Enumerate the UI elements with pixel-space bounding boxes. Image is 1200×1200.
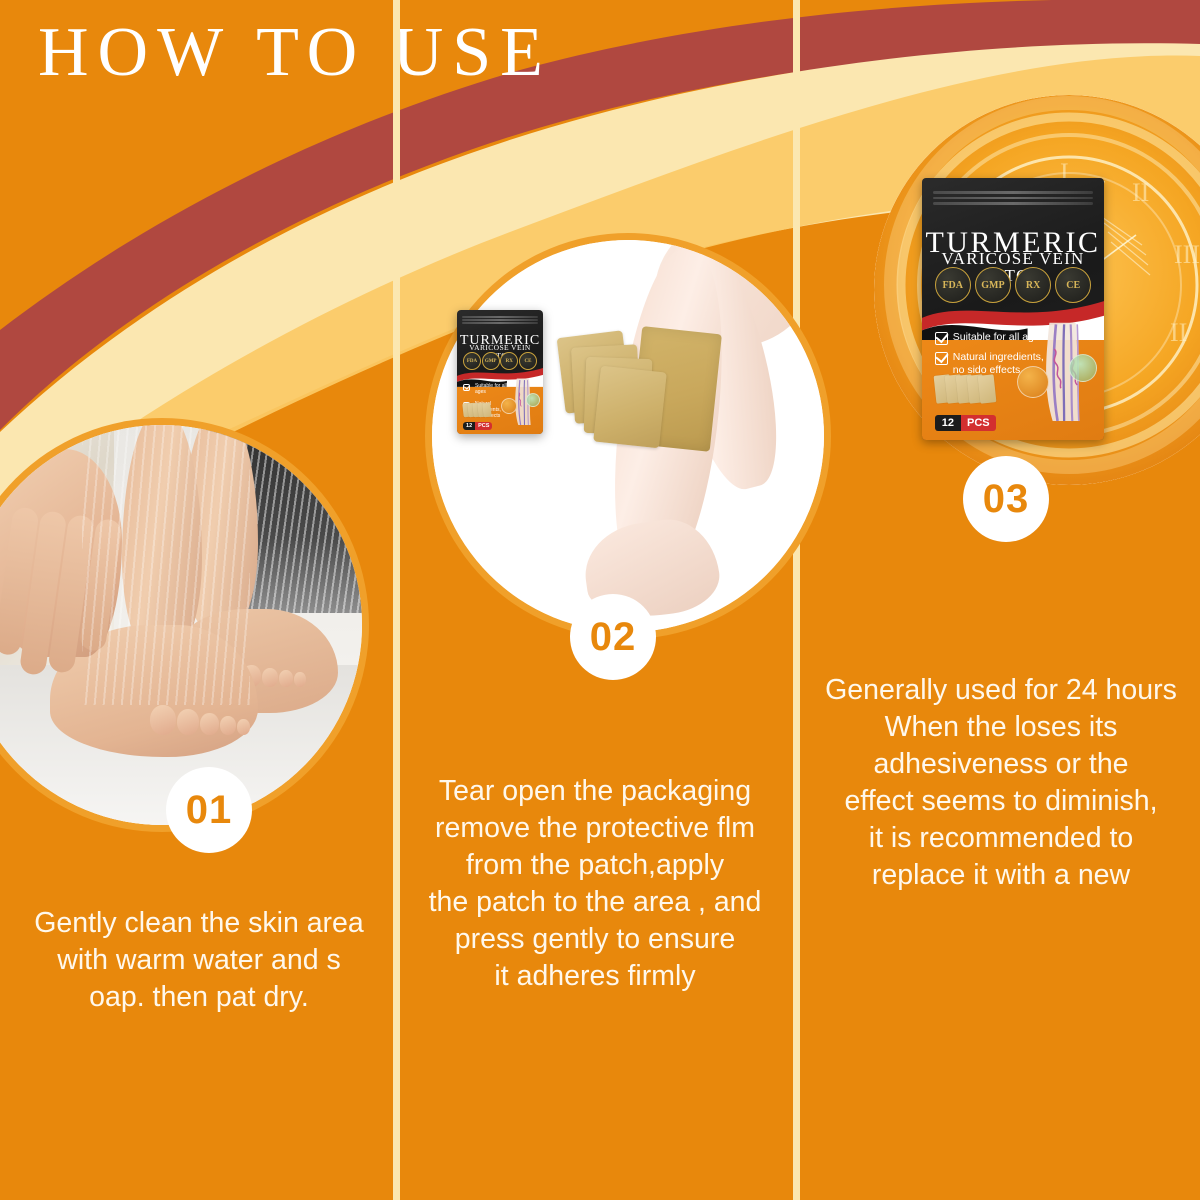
leaf-icon	[526, 393, 540, 407]
feet-in-shower-photo	[0, 425, 362, 825]
check-icon	[935, 332, 948, 345]
step-1-caption: Gently clean the skin area with warm wat…	[10, 905, 388, 1016]
svg-text:III: III	[1174, 240, 1200, 269]
product-package-small: TURMERIC VARICOSE VEIN PATCH FDA GMP RX …	[457, 310, 543, 434]
package-count-number: 12	[463, 422, 475, 430]
package-feature: Suitable for all ages	[953, 331, 1045, 344]
package-certification-badges: FDA GMP RX CE	[463, 352, 537, 370]
package-certification-badges: FDA GMP RX CE	[935, 267, 1092, 303]
step-3-caption: Generally used for 24 hours When the los…	[806, 672, 1196, 894]
package-patch-stack-graphic	[463, 403, 488, 417]
caduceus-badge-icon: RX	[500, 352, 518, 370]
gmp-badge-icon: GMP	[482, 352, 500, 370]
step-1-number-badge: 01	[166, 767, 252, 853]
check-icon	[463, 384, 470, 391]
fda-badge-icon: FDA	[935, 267, 971, 303]
package-count: 12 PCS	[463, 422, 492, 430]
step-2-photo-circle	[432, 240, 824, 632]
product-package-large: TURMERIC VARICOSE VEIN PATCH FDA GMP RX …	[922, 178, 1104, 440]
leaf-icon	[1069, 354, 1097, 382]
step-2-caption: Tear open the packaging remove the prote…	[404, 773, 786, 995]
svg-text:II: II	[1132, 178, 1149, 207]
step-3-number-badge: 03	[963, 456, 1049, 542]
package-count: 12 PCS	[935, 415, 996, 431]
package-count-number: 12	[935, 415, 961, 431]
svg-text:II: II	[1170, 318, 1187, 347]
package-count-unit: PCS	[961, 415, 996, 431]
gmp-badge-icon: GMP	[975, 267, 1011, 303]
check-icon	[935, 352, 948, 365]
loose-patch	[593, 366, 667, 448]
fda-badge-icon: FDA	[463, 352, 481, 370]
caduceus-badge-icon: RX	[1015, 267, 1051, 303]
left-toes	[150, 705, 250, 735]
package-patch-stack-graphic	[935, 375, 990, 403]
ce-badge-icon: CE	[1055, 267, 1091, 303]
step-1-photo-circle	[0, 425, 362, 825]
legs-with-patch-photo	[432, 240, 824, 632]
package-feature: Suitable for all ages	[475, 383, 516, 395]
how-to-use-infographic: HOW TO USE 01 Gently clean	[0, 0, 1200, 1200]
water-stream	[82, 425, 250, 705]
package-count-unit: PCS	[475, 422, 492, 430]
ce-badge-icon: CE	[519, 352, 537, 370]
step-2-number-badge: 02	[570, 594, 656, 680]
panel-divider-1	[393, 0, 400, 1200]
package-zip-seal	[933, 191, 1093, 220]
package-zip-seal	[462, 316, 538, 330]
page-title: HOW TO USE	[38, 16, 552, 90]
